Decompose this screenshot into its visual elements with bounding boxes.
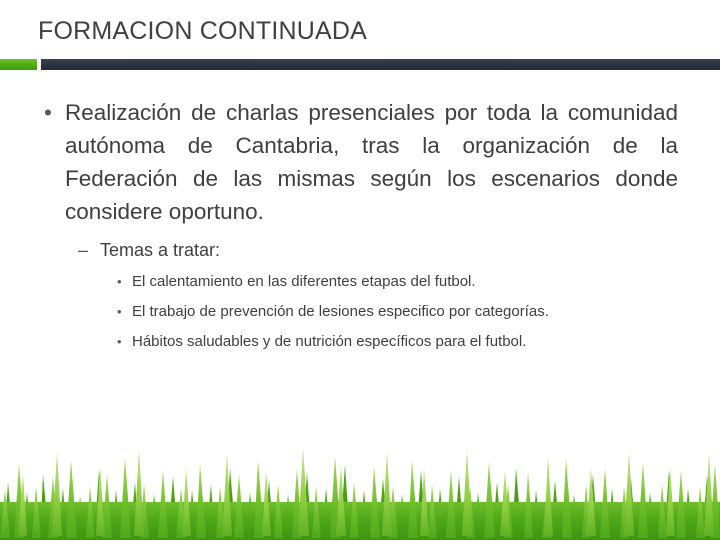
bullet-text-level2: Temas a tratar: (100, 237, 678, 263)
slide-canvas: FORMACION CONTINUADA • Realización de ch… (0, 0, 720, 540)
bullet-item-level2: – Temas a tratar: (78, 237, 678, 263)
page-title: FORMACION CONTINUADA (38, 17, 678, 46)
slide-body: • Realización de charlas presenciales po… (0, 96, 720, 353)
bullet-item-level3: • Hábitos saludables y de nutrición espe… (117, 330, 678, 353)
bullet-item-level1: • Realización de charlas presenciales po… (44, 96, 678, 228)
bullet-text-level3: El trabajo de prevención de lesiones esp… (132, 300, 678, 323)
bullet-marker-level3: • (117, 270, 122, 293)
bullet-text-level3: El calentamiento en las diferentes etapa… (132, 270, 678, 293)
bullet-marker-level2: – (78, 237, 88, 263)
accent-green-block (0, 59, 37, 70)
bullet-text-level1: Realización de charlas presenciales por … (65, 96, 678, 228)
accent-dark-bar (41, 59, 720, 70)
bullet-marker-level3: • (117, 300, 122, 323)
bullet-marker-level3: • (117, 330, 122, 353)
grass-icon (0, 430, 720, 540)
bullet-item-level3: • El trabajo de prevención de lesiones e… (117, 300, 678, 323)
bullet-item-level3: • El calentamiento en las diferentes eta… (117, 270, 678, 293)
bullet-text-level3: Hábitos saludables y de nutrición especí… (132, 330, 678, 353)
bullet-marker-level1: • (44, 96, 52, 129)
